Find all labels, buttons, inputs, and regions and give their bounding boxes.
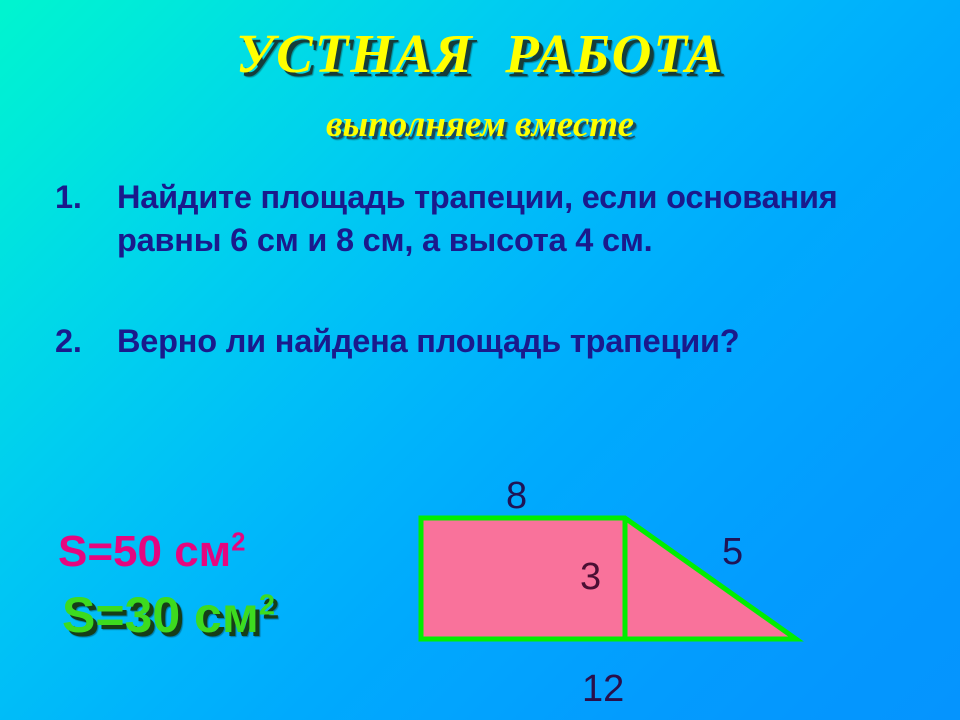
page-subtitle: выполняем вместе bbox=[0, 103, 960, 146]
slide-canvas: УСТНАЯ РАБОТА выполняем вместе 1. Найдит… bbox=[0, 0, 960, 720]
answer-correct-text: S=30 см bbox=[62, 587, 259, 643]
question-number-1: 1. bbox=[55, 176, 117, 219]
figure-label-top-base: 8 bbox=[506, 477, 527, 515]
figure-label-slant-side: 5 bbox=[722, 533, 743, 571]
question-text-1: Найдите площадь трапеции, если основания… bbox=[117, 176, 885, 262]
answer-incorrect: S=50 см2 bbox=[58, 527, 245, 577]
answer-incorrect-text: S=50 см bbox=[58, 527, 231, 576]
question-text-2: Верно ли найдена площадь трапеции? bbox=[117, 320, 885, 363]
answer-correct-exponent: 2 bbox=[259, 589, 275, 621]
answer-correct: S=30 см2 bbox=[62, 586, 275, 644]
question-item-1: 1. Найдите площадь трапеции, если основа… bbox=[55, 176, 885, 262]
answer-incorrect-exponent: 2 bbox=[231, 528, 245, 556]
figure-label-bottom-base: 12 bbox=[582, 670, 624, 708]
trapezoid-figure: 8 3 5 12 bbox=[400, 470, 830, 720]
question-list: 1. Найдите площадь трапеции, если основа… bbox=[55, 176, 885, 364]
question-number-2: 2. bbox=[55, 320, 117, 363]
page-title: УСТНАЯ РАБОТА bbox=[0, 22, 960, 85]
question-item-2: 2. Верно ли найдена площадь трапеции? bbox=[55, 320, 885, 363]
figure-label-height: 3 bbox=[580, 558, 601, 596]
